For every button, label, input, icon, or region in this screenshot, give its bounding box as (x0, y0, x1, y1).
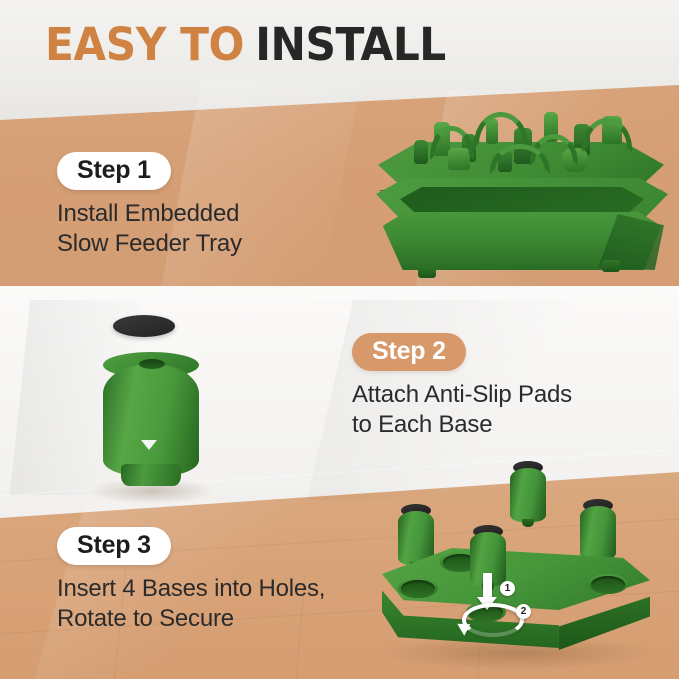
step-2-badge: Step 2 (352, 333, 466, 371)
base-leg-neck (121, 464, 181, 486)
base-leg-body-inserting (470, 532, 506, 586)
base-alignment-arrow-icon (141, 440, 157, 450)
base-leg-tip-inserting (482, 583, 494, 591)
feeder-ridge-2 (474, 112, 528, 148)
title-orange-text: EASY TO (45, 18, 244, 71)
feeder-nub-8 (414, 140, 428, 164)
inverted-tray-illustration (382, 548, 650, 660)
step-1-block: Step 1 Install Embedded Slow Feeder Tray (57, 152, 242, 260)
tray-hole-front (469, 604, 503, 621)
step-2-description: Attach Anti-Slip Pads to Each Base (352, 380, 572, 440)
base-leg-top-recess (139, 359, 165, 369)
tray-foot-front-left (418, 266, 436, 278)
title-dark-text: INSTALL (255, 18, 446, 71)
anti-slip-pad-large (113, 315, 175, 337)
tray-hole-left (401, 580, 435, 597)
base-leg-floating-top (508, 460, 548, 522)
step-3-badge: Step 3 (57, 527, 171, 565)
infographic-canvas: EASY TOINSTALL (0, 0, 679, 679)
page-title: EASY TOINSTALL (45, 22, 446, 67)
base-leg-body-top (510, 468, 546, 522)
step-1-description: Install Embedded Slow Feeder Tray (57, 199, 242, 259)
tray-hole-right (591, 576, 625, 593)
base-leg-tip-top (522, 519, 534, 527)
step-2-block: Step 2 Attach Anti-Slip Pads to Each Bas… (352, 333, 572, 441)
step-3-description: Insert 4 Bases into Holes, Rotate to Sec… (57, 574, 325, 634)
base-leg-inserting (468, 524, 508, 586)
tray-foot-front-right (602, 260, 620, 272)
step-3-block: Step 3 Insert 4 Bases into Holes, Rotate… (57, 527, 325, 635)
base-leg-large-illustration (95, 352, 207, 492)
feeder-tray-bowl-illustration (376, 178, 668, 286)
step-1-badge: Step 1 (57, 152, 171, 190)
feeder-ridge-4 (582, 118, 632, 152)
base-leg-body (103, 364, 199, 476)
